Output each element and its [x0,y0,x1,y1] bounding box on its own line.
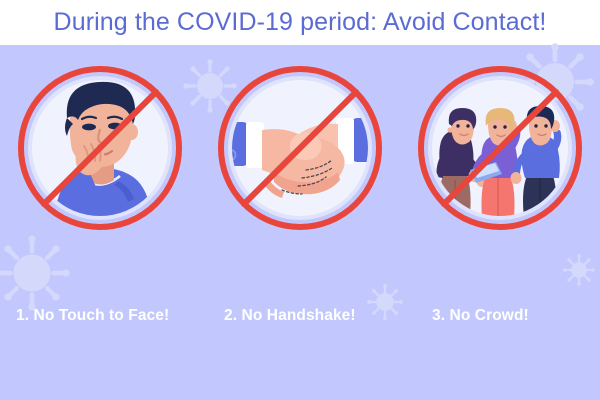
caption-layer: 1. No Touch to Face! 2. No Handshake! 3.… [0,45,600,400]
page-title: During the COVID-19 period: Avoid Contac… [0,0,600,45]
poster-body: 1. No Touch to Face! 2. No Handshake! 3.… [0,45,600,400]
covid-avoid-contact-poster: During the COVID-19 period: Avoid Contac… [0,0,600,400]
caption-no-crowd: 3. No Crowd! [432,307,529,325]
caption-no-touch-face: 1. No Touch to Face! [16,307,169,325]
caption-no-handshake: 2. No Handshake! [224,307,356,325]
